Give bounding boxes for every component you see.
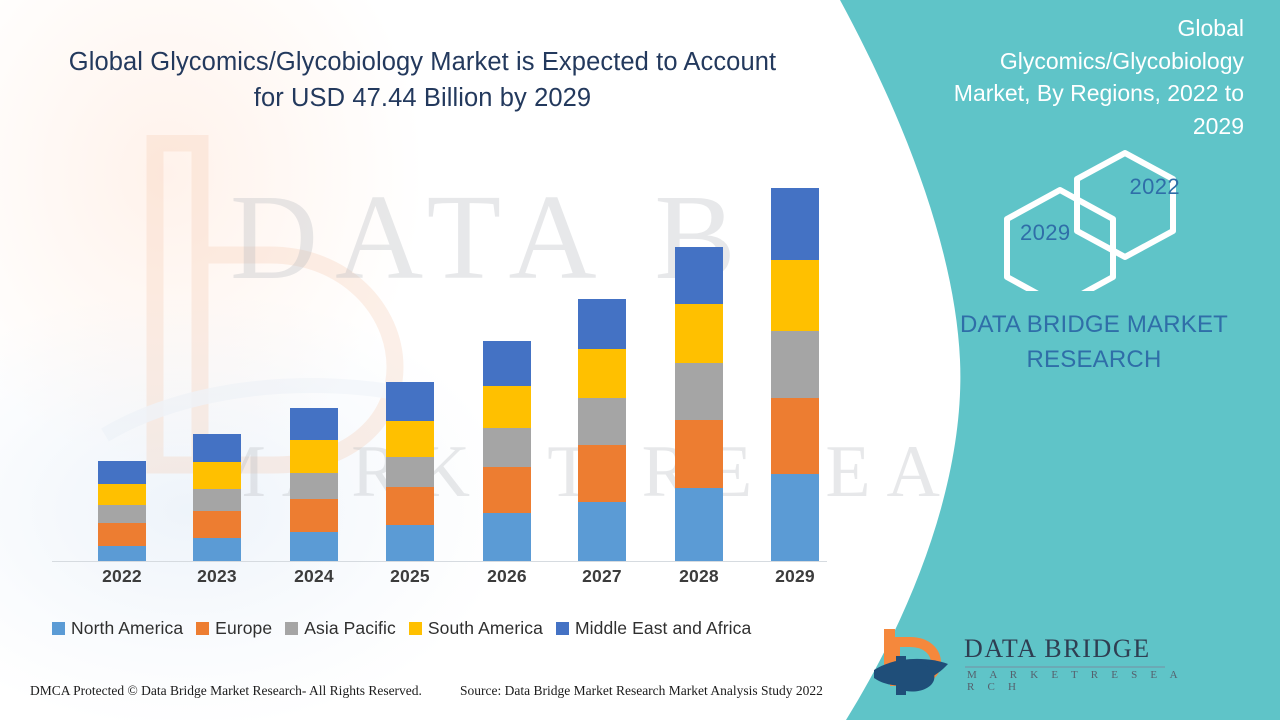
legend-swatch-icon: [196, 622, 209, 635]
legend-item-middle-east-and-africa[interactable]: Middle East and Africa: [556, 618, 751, 639]
bar-segment-2027-south-america: [578, 349, 626, 397]
bar-column-2029: [771, 188, 819, 561]
bar-segment-2029-asia-pacific: [771, 331, 819, 398]
x-axis-label-2024: 2024: [279, 566, 349, 587]
bar-segment-2025-south-america: [386, 421, 434, 458]
bar-segment-2023-europe: [193, 511, 241, 538]
legend-label: Europe: [215, 618, 272, 639]
data-bridge-b-mark-icon: [872, 626, 950, 698]
bar-column-2025: [386, 382, 434, 561]
bar-segment-2026-north-america: [483, 513, 531, 561]
logo-subtitle: M A R K E T R E S E A R C H: [967, 669, 1202, 693]
bar-segment-2025-asia-pacific: [386, 457, 434, 486]
chart-legend: North AmericaEuropeAsia PacificSouth Ame…: [52, 615, 832, 641]
x-axis-label-2028: 2028: [664, 566, 734, 587]
bar-column-2027: [578, 299, 626, 561]
footer-dmca-text: DMCA Protected © Data Bridge Market Rese…: [30, 683, 422, 699]
bar-segment-2023-north-america: [193, 538, 241, 561]
x-axis-label-2025: 2025: [375, 566, 445, 587]
panel-brand-text: DATA BRIDGE MARKET RESEARCH: [944, 308, 1244, 378]
bar-segment-2028-south-america: [675, 304, 723, 363]
bar-segment-2028-asia-pacific: [675, 363, 723, 420]
bar-segment-2023-middle-east-and-africa: [193, 434, 241, 462]
bar-segment-2024-asia-pacific: [290, 473, 338, 499]
bar-segment-2028-europe: [675, 420, 723, 488]
bar-segment-2025-north-america: [386, 525, 434, 561]
bar-segment-2024-south-america: [290, 440, 338, 473]
bar-segment-2022-south-america: [98, 484, 146, 505]
legend-label: South America: [428, 618, 543, 639]
bar-segment-2024-europe: [290, 499, 338, 532]
bar-segment-2028-north-america: [675, 488, 723, 561]
x-axis-line: [52, 561, 827, 562]
hex-badge-2029-label: 2029: [1020, 220, 1071, 246]
legend-item-europe[interactable]: Europe: [196, 618, 272, 639]
bar-segment-2024-north-america: [290, 532, 338, 561]
bar-segment-2029-south-america: [771, 260, 819, 332]
legend-label: Middle East and Africa: [575, 618, 751, 639]
x-axis-label-2022: 2022: [87, 566, 157, 587]
legend-item-south-america[interactable]: South America: [409, 618, 543, 639]
data-bridge-logo: DATA BRIDGE M A R K E T R E S E A R C H: [872, 624, 1202, 700]
bar-column-2026: [483, 341, 531, 562]
x-axis-label-2026: 2026: [472, 566, 542, 587]
bar-segment-2028-middle-east-and-africa: [675, 247, 723, 304]
bar-column-2022: [98, 461, 146, 561]
panel-title: Global Glycomics/Glycobiology Market, By…: [944, 12, 1244, 143]
hexagon-badges: 2022 2029: [997, 146, 1202, 291]
legend-swatch-icon: [285, 622, 298, 635]
x-axis-labels: 20222023202420252026202720282029: [52, 566, 827, 594]
logo-title: DATA BRIDGE: [964, 634, 1151, 664]
hexagon-outline-icons: [997, 146, 1202, 291]
bar-segment-2027-north-america: [578, 502, 626, 561]
bar-segment-2025-middle-east-and-africa: [386, 382, 434, 420]
stacked-bar-chart: [52, 150, 827, 562]
bar-segment-2026-asia-pacific: [483, 428, 531, 466]
bar-segment-2022-middle-east-and-africa: [98, 461, 146, 484]
bar-segment-2029-europe: [771, 398, 819, 474]
bar-segment-2023-asia-pacific: [193, 489, 241, 511]
bar-segment-2023-south-america: [193, 462, 241, 490]
legend-item-asia-pacific[interactable]: Asia Pacific: [285, 618, 396, 639]
bar-segment-2029-middle-east-and-africa: [771, 188, 819, 260]
bar-column-2023: [193, 434, 241, 561]
bar-segment-2026-south-america: [483, 386, 531, 428]
bar-segment-2025-europe: [386, 487, 434, 525]
bar-column-2028: [675, 247, 723, 561]
bar-segment-2024-middle-east-and-africa: [290, 408, 338, 440]
hex-badge-2022-label: 2022: [1129, 174, 1180, 200]
chart-plot-area: [52, 150, 827, 561]
legend-swatch-icon: [409, 622, 422, 635]
footer-source-text: Source: Data Bridge Market Research Mark…: [460, 683, 823, 699]
bar-segment-2022-asia-pacific: [98, 505, 146, 524]
bar-segment-2022-europe: [98, 523, 146, 546]
bar-segment-2027-europe: [578, 445, 626, 502]
footer: DMCA Protected © Data Bridge Market Rese…: [0, 683, 855, 707]
bar-segment-2027-asia-pacific: [578, 398, 626, 446]
bar-segment-2027-middle-east-and-africa: [578, 299, 626, 349]
bar-segment-2022-north-america: [98, 546, 146, 561]
legend-swatch-icon: [556, 622, 569, 635]
bar-segment-2029-north-america: [771, 474, 819, 561]
infographic-canvas: DATA B MARKET RESEARCH Global Glycomics/…: [0, 0, 1280, 720]
bar-segment-2026-middle-east-and-africa: [483, 341, 531, 387]
legend-label: North America: [71, 618, 183, 639]
bar-segment-2026-europe: [483, 467, 531, 514]
legend-swatch-icon: [52, 622, 65, 635]
logo-divider: [965, 666, 1165, 668]
bar-column-2024: [290, 408, 338, 561]
x-axis-label-2029: 2029: [760, 566, 830, 587]
x-axis-label-2023: 2023: [182, 566, 252, 587]
legend-item-north-america[interactable]: North America: [52, 618, 183, 639]
page-title: Global Glycomics/Glycobiology Market is …: [60, 44, 785, 117]
legend-label: Asia Pacific: [304, 618, 396, 639]
x-axis-label-2027: 2027: [567, 566, 637, 587]
